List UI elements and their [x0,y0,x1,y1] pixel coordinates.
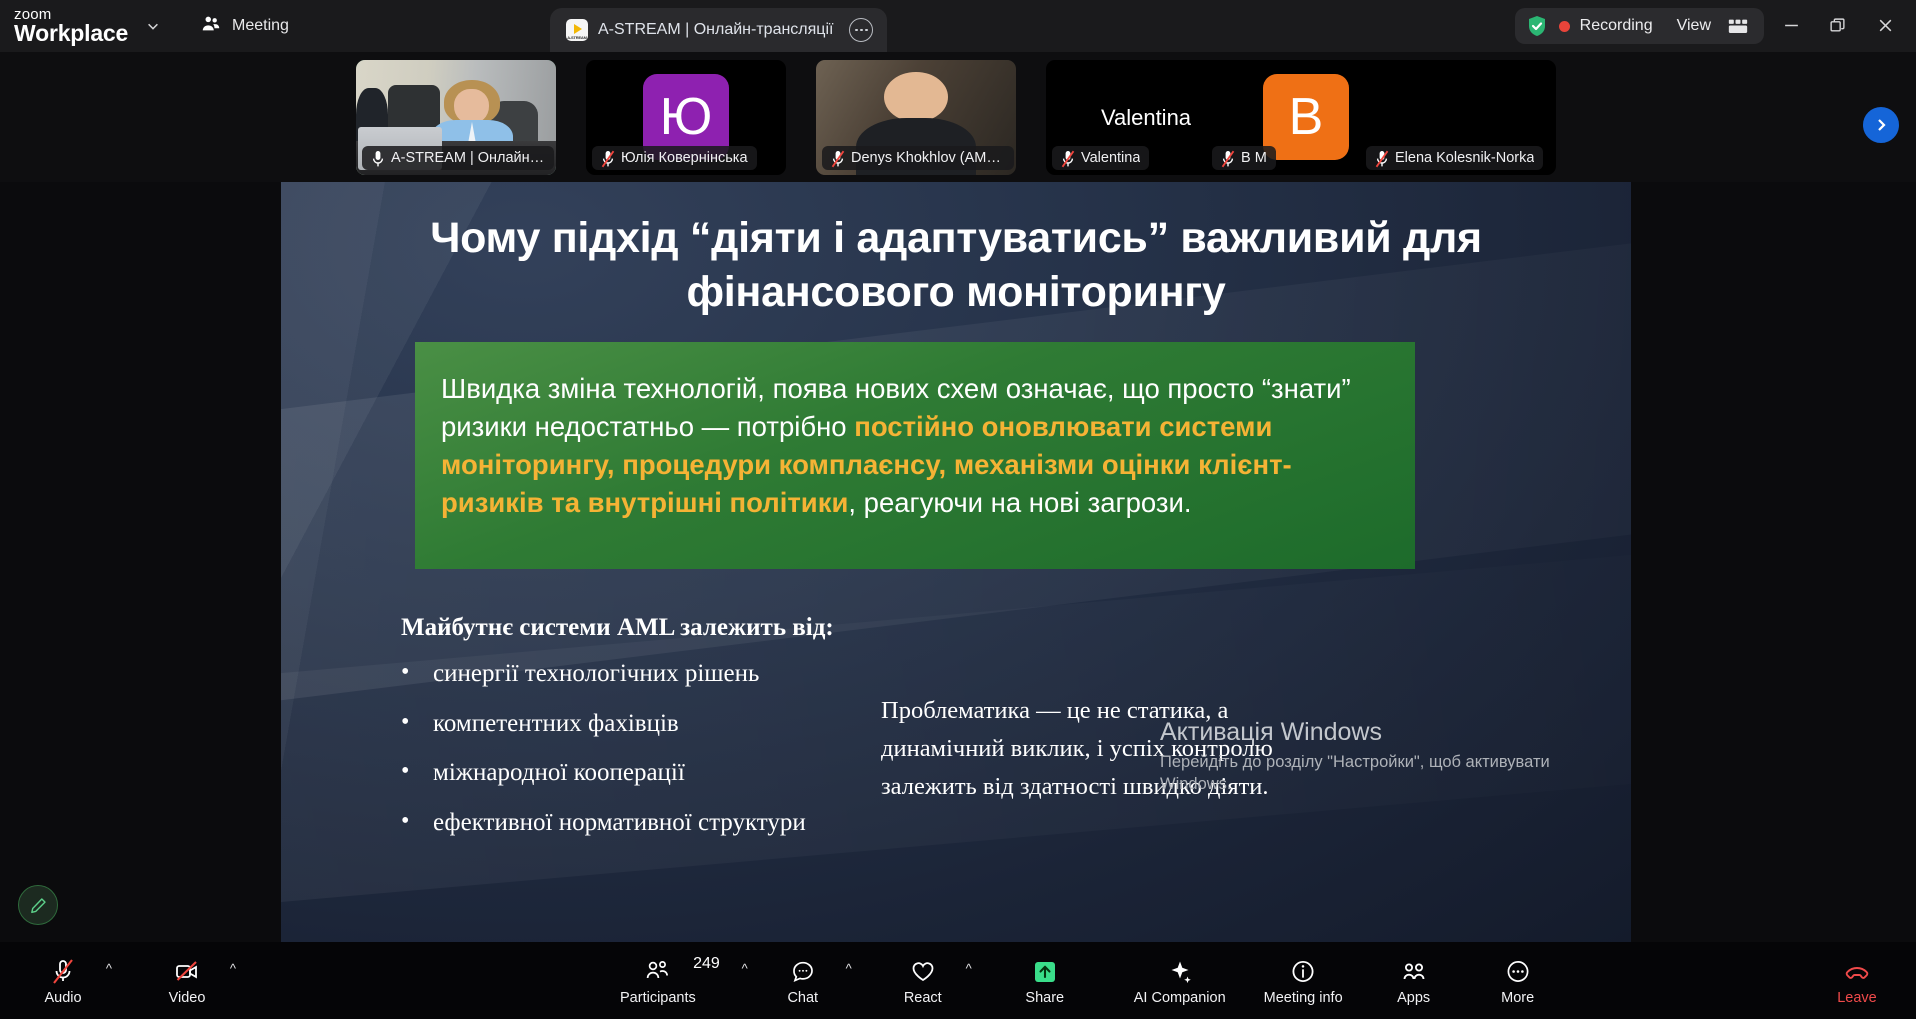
apps-label: Apps [1397,990,1430,1006]
meeting-label: Meeting [232,17,289,35]
chat-options-chevron-icon[interactable]: ^ [846,961,852,976]
mic-off-icon [601,150,615,166]
mic-off-icon [1375,150,1389,166]
ai-companion-button[interactable]: AI Companion [1134,949,1226,1013]
audio-button[interactable]: Audio ^ [30,949,96,1013]
participant-thumbnail-strip: A-STREAM | Онлайн-т... Ю Юлія Ковернінсь… [0,52,1916,182]
list-item: • синергії технологічних рішень [401,660,1021,688]
participant-name: A-STREAM | Онлайн-т... [391,150,545,166]
leave-button[interactable]: Leave [1824,949,1890,1013]
thumbnail-name-bar: A-STREAM | Онлайн-т... [362,146,554,170]
slide-right-paragraph: Проблематика — це не статика, а динамічн… [881,692,1331,806]
slide-subheading: Майбутнє системи AML залежить від: [401,614,834,642]
participants-options-chevron-icon[interactable]: ^ [742,961,748,976]
callout-text: Швидка зміна технологій, поява нових схе… [441,370,1389,522]
bullet-dot-icon: • [401,759,411,784]
ai-companion-label: AI Companion [1134,990,1226,1006]
heart-icon [909,956,937,986]
thumbnail-name-bar: В М [1212,146,1276,170]
share-screen-icon [1031,956,1059,986]
chat-label: Chat [787,990,818,1006]
encryption-shield-icon[interactable] [1525,14,1549,38]
audio-label: Audio [44,990,81,1006]
zoom-workplace-logo: zoom Workplace [14,7,132,46]
mic-off-icon [1221,150,1235,166]
thumbnail-name-bar: Valentina [1052,146,1149,170]
restore-icon[interactable] [1816,6,1858,44]
highlight-callout-box: Швидка зміна технологій, поява нових схе… [415,342,1415,569]
pencil-icon[interactable] [18,885,58,925]
mic-off-icon [1061,150,1075,166]
a-stream-favicon: A-STREAM [566,19,588,41]
brand-line-2: Workplace [14,22,132,45]
shared-screen-stage: Чому підхід “діяти і адаптуватись” важли… [0,182,1916,942]
participant-name: Denys Khokhlov (AML ... [851,150,1005,166]
chevron-down-icon[interactable] [138,11,168,41]
ai-sparkle-icon [1166,956,1194,986]
participants-count: 249 [693,955,720,973]
thumbnail-name-bar: Elena Kolesnik-Norka [1366,146,1543,170]
chat-button[interactable]: Chat ^ [770,949,836,1013]
bullet-dot-icon: • [401,660,411,685]
more-button[interactable]: More [1485,949,1551,1013]
thumbnail-denys-khokhlov[interactable]: Denys Khokhlov (AML ... [816,60,1016,175]
participant-name: Valentina [1081,150,1140,166]
people-icon [200,13,222,40]
more-options-icon[interactable] [849,18,873,42]
share-button[interactable]: Share [1012,949,1078,1013]
list-item-label: синергії технологічних рішень [433,660,759,688]
tab-title: A-STREAM | Онлайн-трансляції [598,21,833,39]
bullet-dot-icon: • [401,710,411,735]
meeting-info-label: Meeting info [1264,990,1343,1006]
more-label: More [1501,990,1534,1006]
list-item-label: ефективної нормативної структури [433,809,806,837]
bullet-dot-icon: • [401,809,411,834]
meeting-menu-item[interactable]: Meeting [194,9,295,43]
view-label[interactable]: View [1677,17,1711,35]
info-circle-icon [1289,956,1317,986]
leave-label: Leave [1837,990,1877,1006]
audio-options-chevron-icon[interactable]: ^ [106,961,112,976]
leave-meeting-icon [1843,956,1871,986]
video-label: Video [169,990,206,1006]
title-bar: zoom Workplace Meeting A-STREAM A-STREAM… [0,0,1916,52]
more-dots-icon [1504,956,1532,986]
thumbnail-name-bar: Юлія Ковернінська [592,146,757,170]
avatar-initial: В [1263,74,1349,160]
list-item-label: компетентних фахівців [433,710,679,738]
participant-name: В М [1241,150,1267,166]
slide-title: Чому підхід “діяти і адаптуватись” важли… [341,212,1571,320]
share-label: Share [1025,990,1064,1006]
meeting-controls-toolbar: Audio ^ Video ^ Participants 249 ^ Chat … [0,942,1916,1019]
minimize-icon[interactable] [1770,6,1812,44]
react-label: React [904,990,942,1006]
microphone-off-icon [49,956,77,986]
thumbnail-yuliia[interactable]: Ю Юлія Ковернінська [586,60,786,175]
favicon-label: A-STREAM [566,35,588,40]
participant-name: Elena Kolesnik-Norka [1395,150,1534,166]
browser-tab-a-stream[interactable]: A-STREAM A-STREAM | Онлайн-трансляції [550,8,887,52]
thumbnail-name-bar: Denys Khokhlov (AML ... [822,146,1014,170]
close-icon[interactable] [1864,6,1906,44]
recording-dot-icon [1559,21,1570,32]
participants-button[interactable]: Participants 249 ^ [620,949,696,1013]
presentation-slide: Чому підхід “діяти і адаптуватись” важли… [281,182,1631,942]
video-options-chevron-icon[interactable]: ^ [230,961,236,976]
video-button[interactable]: Video ^ [154,949,220,1013]
layout-grid-icon[interactable] [1728,18,1748,34]
react-options-chevron-icon[interactable]: ^ [966,961,972,976]
mic-off-icon [831,150,845,166]
thumbnail-elena-kolesnik-norka[interactable]: Elena Kolesnik-Norka [1360,60,1556,175]
react-button[interactable]: React ^ [890,949,956,1013]
apps-icon [1400,956,1428,986]
recording-label: Recording [1580,17,1653,35]
recording-status-pill[interactable]: Recording View [1515,8,1764,44]
meeting-info-button[interactable]: Meeting info [1264,949,1343,1013]
apps-button[interactable]: Apps [1381,949,1447,1013]
participant-name: Юлія Ковернінська [621,150,748,166]
list-item: • ефективної нормативної структури [401,809,1021,837]
chevron-right-icon[interactable] [1860,104,1902,146]
participants-icon [644,956,672,986]
callout-part-2: , реагуючи на нові загрози. [848,487,1191,518]
mic-on-icon [371,150,385,166]
list-item-label: міжнародної кооперації [433,759,685,787]
thumbnail-a-stream[interactable]: A-STREAM | Онлайн-т... [356,60,556,175]
participants-label: Participants [620,990,696,1006]
camera-off-icon [173,956,201,986]
chat-icon [789,956,817,986]
